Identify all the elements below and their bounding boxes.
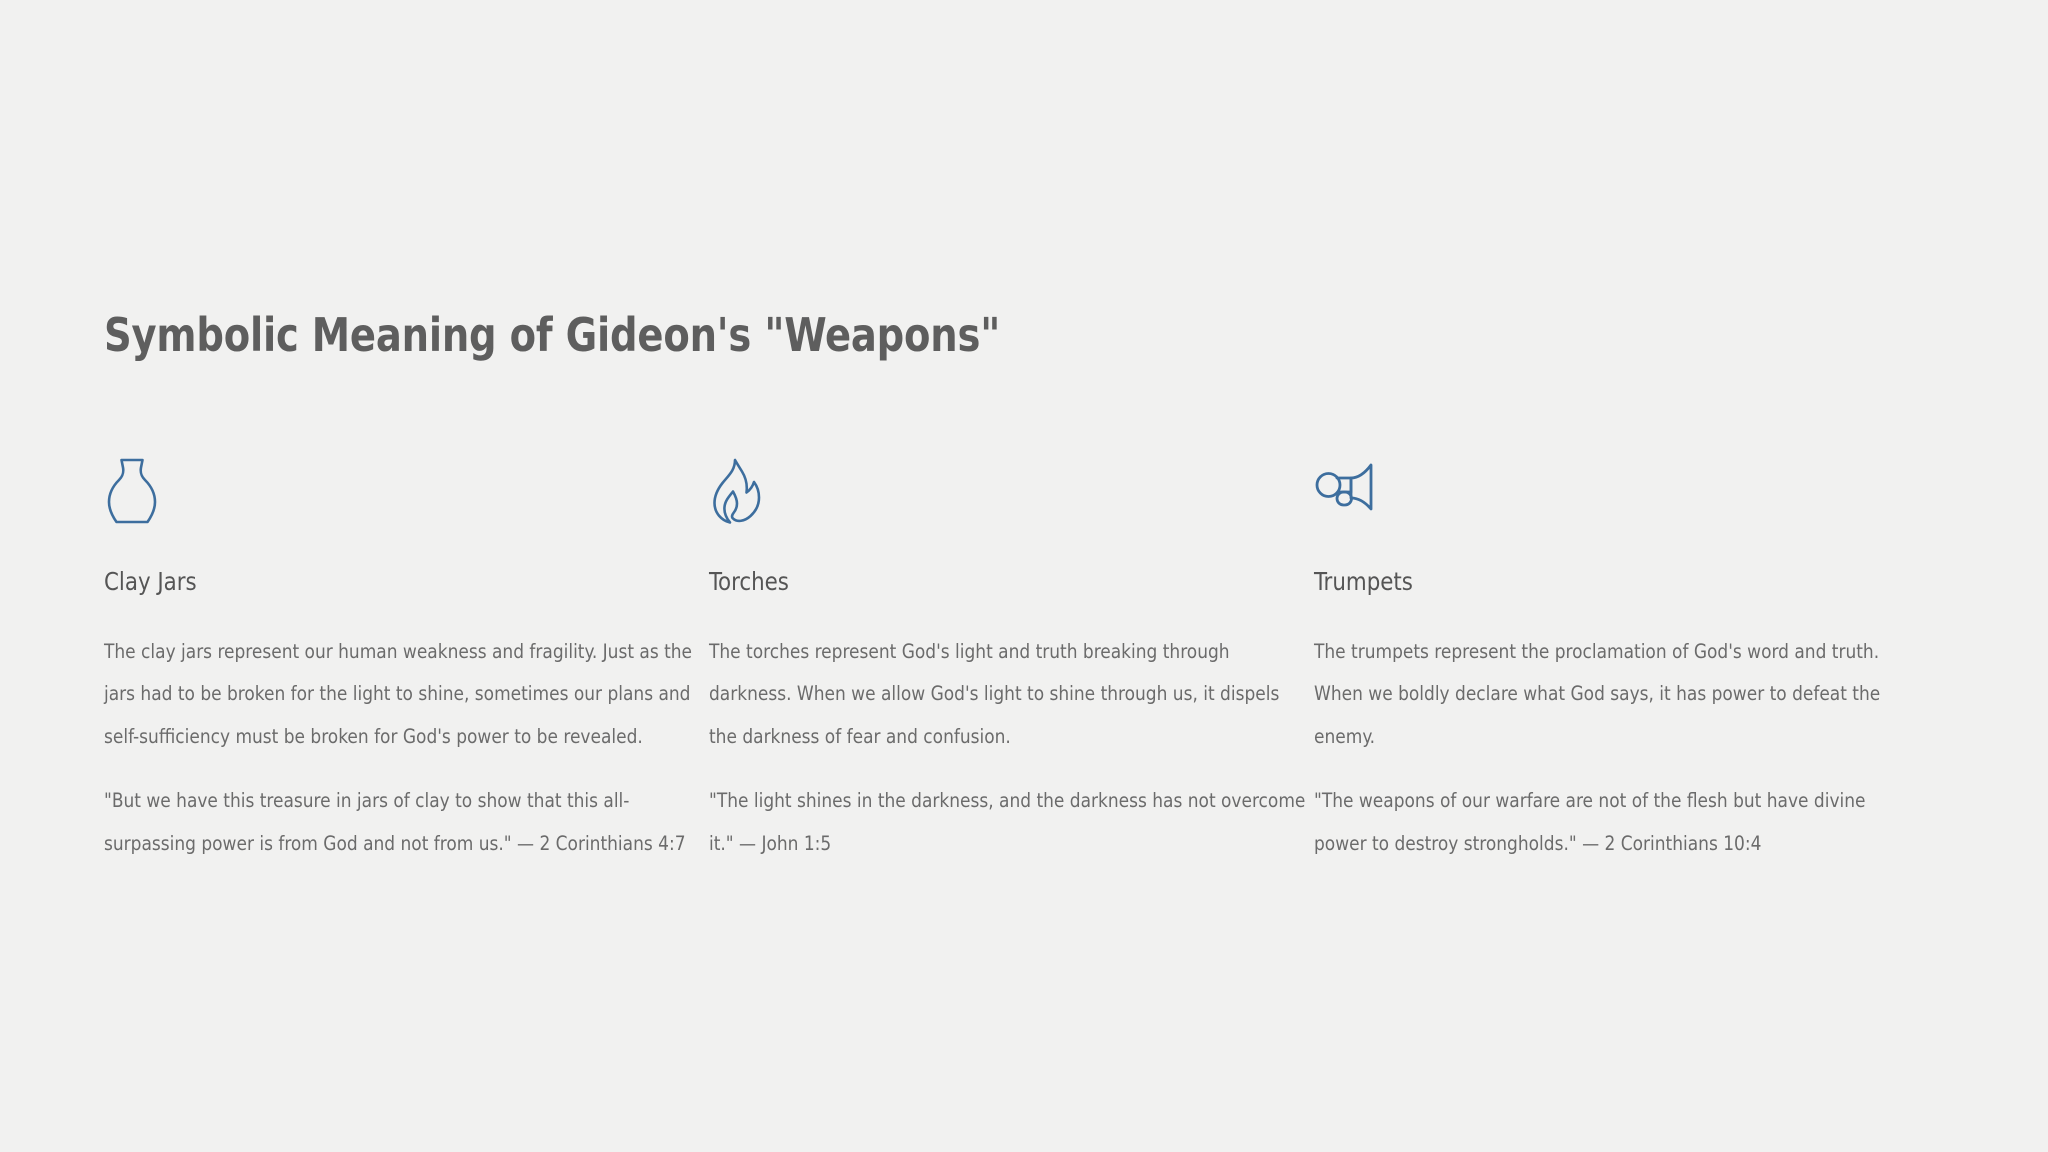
symbol-card-title: Torches: [709, 567, 1279, 597]
symbol-card-title: Clay Jars: [104, 567, 674, 597]
symbol-card-trumpets: Trumpets The trumpets represent the proc…: [1314, 457, 1914, 866]
symbol-card-torches: Torches The torches represent God's ligh…: [709, 457, 1309, 866]
symbol-card-body: The clay jars represent our human weakne…: [104, 631, 703, 759]
symbol-card-quote: "The light shines in the darkness, and t…: [709, 780, 1308, 865]
symbol-card-body: The torches represent God's light and tr…: [709, 631, 1308, 759]
page-root: Symbolic Meaning of Gideon's "Weapons" C…: [0, 0, 2048, 1152]
trumpet-icon: [1314, 457, 1914, 525]
content-container: Symbolic Meaning of Gideon's "Weapons" C…: [104, 310, 1954, 865]
page-title: Symbolic Meaning of Gideon's "Weapons": [104, 310, 1825, 361]
flame-icon: [709, 457, 1309, 525]
symbol-card-quote: "The weapons of our warfare are not of t…: [1314, 780, 1913, 865]
symbol-card-clay-jars: Clay Jars The clay jars represent our hu…: [104, 457, 704, 866]
symbol-card-quote: "But we have this treasure in jars of cl…: [104, 780, 703, 865]
symbol-card-body: The trumpets represent the proclamation …: [1314, 631, 1913, 759]
symbol-columns: Clay Jars The clay jars represent our hu…: [104, 457, 1954, 866]
clay-jar-icon: [104, 457, 704, 525]
symbol-card-title: Trumpets: [1314, 567, 1884, 597]
